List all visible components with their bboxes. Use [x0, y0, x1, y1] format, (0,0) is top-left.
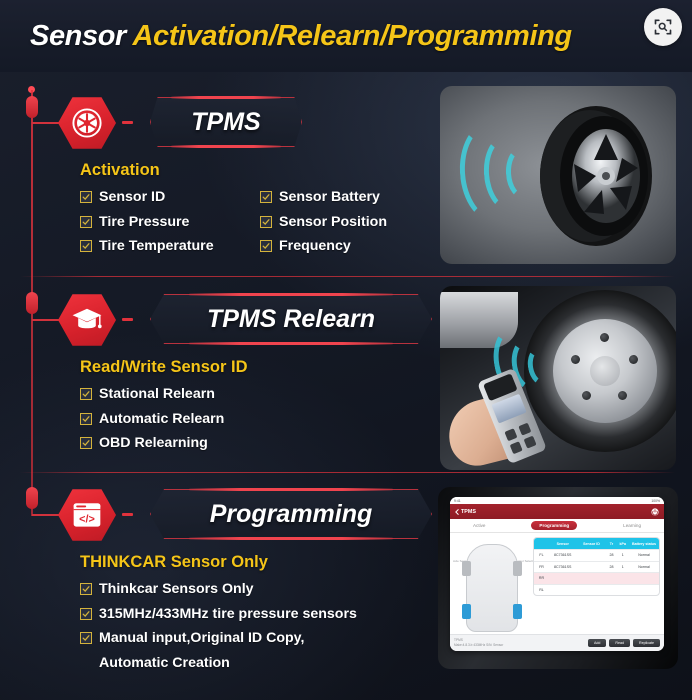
- checkbox-icon: [80, 191, 92, 203]
- list-item: 315MHz/433MHz tire pressure sensors: [80, 605, 357, 624]
- tire-position-rr[interactable]: [513, 604, 522, 619]
- list-item-label: Stational Relearn: [99, 385, 215, 404]
- section-banner-label: TPMS Relearn: [207, 305, 375, 334]
- tablet-footer: TPMS Make:4.8.3.b 433MHz S/N: Sensor Add…: [450, 634, 664, 651]
- section-banner-tpms: TPMS: [150, 97, 302, 147]
- th-sensor-id: Sensor ID: [577, 542, 607, 546]
- list-item-label: 315MHz/433MHz tire pressure sensors: [99, 605, 357, 624]
- th-battery: Battery status: [629, 542, 659, 546]
- status-time: 9:41: [454, 499, 461, 503]
- tire-wheel-icon: [58, 95, 116, 151]
- list-item-label: Tire Pressure: [99, 213, 189, 232]
- list-item: Frequency: [260, 237, 387, 256]
- sensor-table: Sensor Sensor ID Tr kPa Battery status F…: [533, 537, 660, 596]
- rim-graphic: [553, 319, 657, 423]
- list-item: Thinkcar Sensors Only: [80, 580, 357, 599]
- list-item: Tire Temperature: [80, 237, 260, 256]
- add-button[interactable]: Add: [588, 639, 606, 648]
- section-banner-label: Programming: [210, 500, 373, 529]
- tablet-app-title: TPMS: [455, 509, 476, 515]
- tab-active[interactable]: Active: [473, 523, 486, 528]
- chevron-left-icon: [455, 509, 459, 515]
- list-item-label: Sensor Battery: [279, 188, 380, 207]
- th-kpa: kPa: [617, 542, 630, 546]
- list-item-label: Sensor ID: [99, 188, 165, 207]
- list-item-continuation: Automatic Creation: [99, 654, 357, 673]
- section-divider-2: [20, 472, 675, 473]
- tab-learning[interactable]: Learning: [623, 523, 641, 528]
- items-column-1: Stational Relearn Automatic Relearn OBD …: [80, 385, 224, 459]
- page-title-secondary: Activation/Relearn/Programming: [133, 20, 572, 52]
- table-header-row: Sensor Sensor ID Tr kPa Battery status: [534, 538, 659, 549]
- section-banner-programming: Programming: [150, 489, 432, 539]
- list-item: Stational Relearn: [80, 385, 224, 404]
- table-row[interactable]: FL 8C7361SS 28 1 Normal: [534, 549, 659, 561]
- checkbox-icon: [260, 216, 272, 228]
- tablet-top-bar: TPMS: [450, 504, 664, 519]
- items-column-1: Sensor ID Tire Pressure Tire Temperature: [80, 188, 260, 262]
- section-subtitle-thinkcar: THINKCAR Sensor Only: [80, 553, 268, 572]
- list-item-label: Sensor Position: [279, 213, 387, 232]
- list-item-label: Automatic Creation: [99, 654, 230, 673]
- section-divider-1: [20, 276, 675, 277]
- th-tr: Tr: [607, 542, 617, 546]
- tpms-tool-and-wheel-photo: [440, 286, 676, 470]
- checkbox-icon: [80, 240, 92, 252]
- tablet-programming-screen-photo: 9:41 100% TPMS Active Programming Learni…: [438, 487, 678, 669]
- list-item: Sensor Battery: [260, 188, 387, 207]
- replicate-button[interactable]: Replicate: [633, 639, 660, 648]
- page-header: Sensor Activation/Relearn/Programming: [0, 0, 692, 72]
- tablet-tab-bar: Active Programming Learning: [450, 519, 664, 533]
- tablet-screen: 9:41 100% TPMS Active Programming Learni…: [450, 497, 664, 651]
- footer-line-2: Make:4.8.3.b 433MHz S/N: Sensor: [454, 643, 503, 648]
- tab-programming[interactable]: Programming: [531, 521, 577, 529]
- checkbox-icon: [260, 240, 272, 252]
- items-column-1: Thinkcar Sensors Only 315MHz/433MHz tire…: [80, 580, 357, 679]
- svg-text:</>: </>: [79, 514, 95, 526]
- page-title-primary: Sensor: [30, 20, 126, 52]
- car-diagram-panel: Axle Sensor Select Axle Sensor Select: [453, 537, 531, 639]
- checkbox-icon: [80, 437, 92, 449]
- section-subtitle-activation: Activation: [80, 161, 160, 180]
- checkbox-icon: [80, 413, 92, 425]
- list-item: Sensor Position: [260, 213, 387, 232]
- list-item-label: Frequency: [279, 237, 351, 256]
- section-tpms-items: Sensor ID Tire Pressure Tire Temperature: [80, 188, 387, 262]
- checkbox-icon: [80, 388, 92, 400]
- badge-connector-dash-1: [122, 121, 133, 124]
- car-diagram[interactable]: [466, 544, 518, 632]
- footer-info: TPMS Make:4.8.3.b 433MHz S/N: Sensor: [454, 638, 503, 647]
- th-sensor: Sensor: [549, 542, 577, 546]
- section-programming-items: Thinkcar Sensors Only 315MHz/433MHz tire…: [80, 580, 357, 679]
- footer-buttons: Add Read Replicate: [588, 639, 660, 648]
- code-window-icon: </>: [58, 487, 116, 543]
- section-relearn-items: Stational Relearn Automatic Relearn OBD …: [80, 385, 224, 459]
- tire-with-signal-waves-photo: [440, 86, 676, 264]
- list-item: Automatic Relearn: [80, 410, 224, 429]
- tablet-status-bar: 9:41 100%: [450, 497, 664, 504]
- list-item: Tire Pressure: [80, 213, 260, 232]
- badge-connector-dash-2: [122, 318, 133, 321]
- tire-position-rl[interactable]: [462, 604, 471, 619]
- checkbox-icon: [80, 632, 92, 644]
- table-row[interactable]: RR: [534, 572, 659, 584]
- tire-position-fl[interactable]: [462, 561, 471, 576]
- table-row[interactable]: FR 8C7361SS 28 1 Normal: [534, 561, 659, 573]
- list-item-label: Tire Temperature: [99, 237, 214, 256]
- infographic-page: Sensor Activation/Relearn/Programming: [0, 0, 692, 700]
- table-row[interactable]: RL: [534, 584, 659, 596]
- checkbox-icon: [80, 216, 92, 228]
- badge-connector-dash-3: [122, 513, 133, 516]
- section-banner-relearn: TPMS Relearn: [150, 294, 432, 344]
- list-item-label: OBD Relearning: [99, 434, 208, 453]
- list-item-label: Thinkcar Sensors Only: [99, 580, 254, 599]
- scan-search-icon[interactable]: [644, 8, 682, 46]
- hub-graphic: [590, 356, 620, 386]
- list-item-label: Automatic Relearn: [99, 410, 224, 429]
- list-item: OBD Relearning: [80, 434, 224, 453]
- read-button[interactable]: Read: [609, 639, 630, 648]
- tire-graphic: [526, 102, 658, 247]
- tablet-content: Axle Sensor Select Axle Sensor Select Se…: [450, 533, 664, 639]
- checkbox-icon: [260, 191, 272, 203]
- power-icon[interactable]: [651, 503, 659, 521]
- list-item: Manual input,Original ID Copy,: [80, 629, 357, 648]
- items-column-2: Sensor Battery Sensor Position Frequency: [260, 188, 387, 262]
- section-banner-label: TPMS: [191, 108, 260, 137]
- graduation-cap-icon: [58, 292, 116, 348]
- tire-position-fr[interactable]: [513, 561, 522, 576]
- checkbox-icon: [80, 608, 92, 620]
- list-item: Sensor ID: [80, 188, 260, 207]
- list-item-label: Manual input,Original ID Copy,: [99, 629, 304, 648]
- page-title: Sensor Activation/Relearn/Programming: [30, 22, 572, 51]
- section-subtitle-readwrite: Read/Write Sensor ID: [80, 358, 248, 377]
- checkbox-icon: [80, 583, 92, 595]
